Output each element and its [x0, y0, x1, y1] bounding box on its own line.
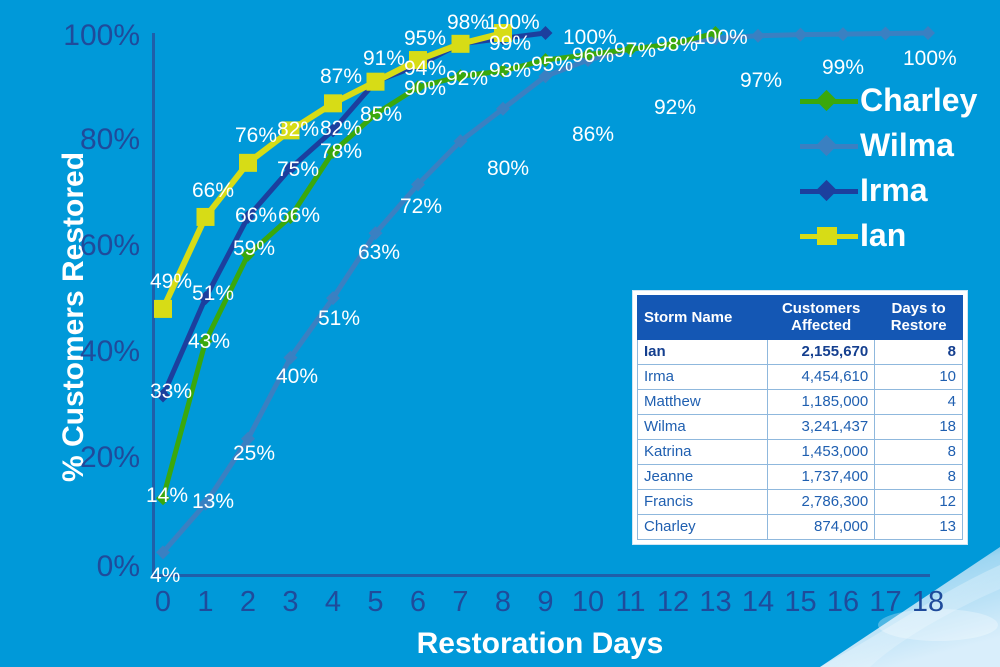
x-tick-18: 18: [908, 586, 948, 619]
data-point-wilma-15: [794, 28, 808, 42]
data-label-irma-75: 75%: [277, 159, 319, 180]
data-label-charley-100: 100%: [694, 27, 748, 48]
data-point-ian-4: [324, 94, 342, 112]
x-tick-10: 10: [568, 586, 608, 619]
cell-storm-name: Katrina: [638, 439, 768, 464]
data-label-irma-51: 51%: [192, 283, 234, 304]
x-tick-8: 8: [483, 586, 523, 619]
x-tick-14: 14: [738, 586, 778, 619]
table-row[interactable]: Irma4,454,61010: [638, 364, 963, 389]
data-label-wilma-80: 80%: [487, 158, 529, 179]
data-label-wilma-25: 25%: [233, 443, 275, 464]
data-point-ian-7: [452, 35, 470, 53]
cell-customers-affected: 874,000: [768, 514, 875, 539]
storm-summary-table: Storm Name Customers Affected Days to Re…: [632, 290, 968, 545]
data-label-charley-97: 97%: [614, 40, 656, 61]
table-header-row: Storm Name Customers Affected Days to Re…: [638, 296, 963, 340]
header-line-1: Days to: [892, 300, 946, 317]
data-label-wilma-100: 100%: [903, 48, 957, 69]
legend-label-irma: Irma: [860, 172, 928, 209]
data-label-irma-66: 66%: [235, 205, 277, 226]
x-tick-5: 5: [356, 586, 396, 619]
data-label-wilma-51: 51%: [318, 308, 360, 329]
data-label-wilma-4: 4%: [150, 565, 180, 586]
data-label-irma-99: 99%: [489, 33, 531, 54]
charley-marker-icon: [800, 90, 858, 112]
column-header-days-to-restore: Days to Restore: [875, 296, 963, 340]
cell-storm-name: Irma: [638, 364, 768, 389]
cell-storm-name: Francis: [638, 489, 768, 514]
x-tick-2: 2: [228, 586, 268, 619]
x-tick-6: 6: [398, 586, 438, 619]
data-label-ian-66: 66%: [192, 180, 234, 201]
table-row[interactable]: Francis2,786,30012: [638, 489, 963, 514]
cell-customers-affected: 1,453,000: [768, 439, 875, 464]
cell-customers-affected: 2,786,300: [768, 489, 875, 514]
data-point-ian-5: [367, 73, 385, 91]
cell-days-to-restore: 8: [875, 439, 963, 464]
cell-customers-affected: 4,454,610: [768, 364, 875, 389]
data-label-ian-76: 76%: [235, 125, 277, 146]
data-point-wilma-14: [751, 29, 765, 43]
data-label-wilma-97: 97%: [740, 70, 782, 91]
x-tick-12: 12: [653, 586, 693, 619]
data-label-wilma-40: 40%: [276, 366, 318, 387]
legend-item-ian[interactable]: Ian: [800, 213, 1000, 258]
cell-storm-name: Charley: [638, 514, 768, 539]
header-line-2: Affected: [791, 317, 851, 334]
cell-storm-name: Wilma: [638, 414, 768, 439]
data-label-ian-87: 87%: [320, 66, 362, 87]
table-row[interactable]: Katrina1,453,0008: [638, 439, 963, 464]
table-row[interactable]: Wilma3,241,43718: [638, 414, 963, 439]
chart-legend: Charley Wilma Irma Ian: [800, 78, 1000, 258]
x-tick-15: 15: [781, 586, 821, 619]
data-point-irma-9: [539, 26, 553, 40]
data-point-wilma-16: [836, 27, 850, 41]
x-tick-3: 3: [271, 586, 311, 619]
data-label-charley-43: 43%: [188, 331, 230, 352]
data-label-irma-82: 82%: [320, 118, 362, 139]
cell-days-to-restore: 8: [875, 339, 963, 364]
data-point-ian-2: [239, 154, 257, 172]
x-axis-title: Restoration Days: [150, 627, 930, 661]
cell-days-to-restore: 13: [875, 514, 963, 539]
data-label-charley-90: 90%: [404, 78, 446, 99]
cell-customers-affected: 2,155,670: [768, 339, 875, 364]
column-header-storm-name: Storm Name: [638, 296, 768, 340]
cell-days-to-restore: 12: [875, 489, 963, 514]
data-label-ian-82: 82%: [277, 119, 319, 140]
data-label-charley-85: 85%: [360, 104, 402, 125]
cell-customers-affected: 1,737,400: [768, 464, 875, 489]
cell-days-to-restore: 4: [875, 389, 963, 414]
data-label-wilma-86: 86%: [572, 124, 614, 145]
x-tick-11: 11: [611, 586, 651, 619]
x-tick-4: 4: [313, 586, 353, 619]
cell-customers-affected: 1,185,000: [768, 389, 875, 414]
header-line-2: Restore: [891, 317, 947, 334]
data-label-charley-92: 92%: [446, 68, 488, 89]
x-tick-0: 0: [143, 586, 183, 619]
irma-marker-icon: [800, 180, 858, 202]
data-point-ian-0: [154, 300, 172, 318]
data-label-charley-95: 95%: [531, 54, 573, 75]
x-tick-16: 16: [823, 586, 863, 619]
header-line-1: Customers: [782, 300, 860, 317]
legend-label-wilma: Wilma: [860, 127, 954, 164]
data-point-ian-1: [197, 208, 215, 226]
data-label-ian-100: 100%: [486, 12, 540, 33]
cell-storm-name: Jeanne: [638, 464, 768, 489]
legend-item-wilma[interactable]: Wilma: [800, 123, 1000, 168]
data-label-charley-96: 96%: [572, 45, 614, 66]
data-label-ian-98: 98%: [447, 12, 489, 33]
table-row[interactable]: Jeanne1,737,4008: [638, 464, 963, 489]
legend-label-charley: Charley: [860, 82, 977, 119]
data-label-wilma-13: 13%: [192, 491, 234, 512]
legend-item-irma[interactable]: Irma: [800, 168, 1000, 213]
data-label-wilma-63: 63%: [358, 242, 400, 263]
data-label-ian-91: 91%: [363, 48, 405, 69]
data-label-charley-78: 78%: [320, 141, 362, 162]
cell-days-to-restore: 18: [875, 414, 963, 439]
data-label-ian-49: 49%: [150, 271, 192, 292]
data-label-irma-33: 33%: [150, 381, 192, 402]
column-header-customers-affected: Customers Affected: [768, 296, 875, 340]
wilma-marker-icon: [800, 135, 858, 157]
data-label-charley-93: 93%: [489, 60, 531, 81]
data-label-wilma-99: 99%: [822, 57, 864, 78]
cell-storm-name: Matthew: [638, 389, 768, 414]
x-tick-13: 13: [696, 586, 736, 619]
table-row[interactable]: Matthew1,185,0004: [638, 389, 963, 414]
data-label-irma-94: 94%: [404, 58, 446, 79]
cell-days-to-restore: 8: [875, 464, 963, 489]
x-tick-7: 7: [441, 586, 481, 619]
table-row[interactable]: Ian2,155,6708: [638, 339, 963, 364]
legend-item-charley[interactable]: Charley: [800, 78, 1000, 123]
x-tick-17: 17: [866, 586, 906, 619]
table-row[interactable]: Charley874,00013: [638, 514, 963, 539]
cell-customers-affected: 3,241,437: [768, 414, 875, 439]
data-label-charley-98: 98%: [656, 34, 698, 55]
data-point-wilma-17: [879, 27, 893, 41]
data-point-wilma-18: [921, 26, 935, 40]
x-tick-9: 9: [526, 586, 566, 619]
cell-storm-name: Ian: [638, 339, 768, 364]
legend-label-ian: Ian: [860, 217, 906, 254]
data-label-charley-59: 59%: [233, 238, 275, 259]
cell-days-to-restore: 10: [875, 364, 963, 389]
ian-marker-icon: [800, 225, 858, 247]
data-label-ian-95: 95%: [404, 28, 446, 49]
data-label-wilma-92: 92%: [654, 97, 696, 118]
chart-canvas: % Customers Restored 100% 80% 60% 40% 20…: [0, 0, 1000, 667]
data-label-charley-14: 14%: [146, 485, 188, 506]
data-label-wilma-72: 72%: [400, 196, 442, 217]
data-label-charley-66: 66%: [278, 205, 320, 226]
x-tick-1: 1: [186, 586, 226, 619]
